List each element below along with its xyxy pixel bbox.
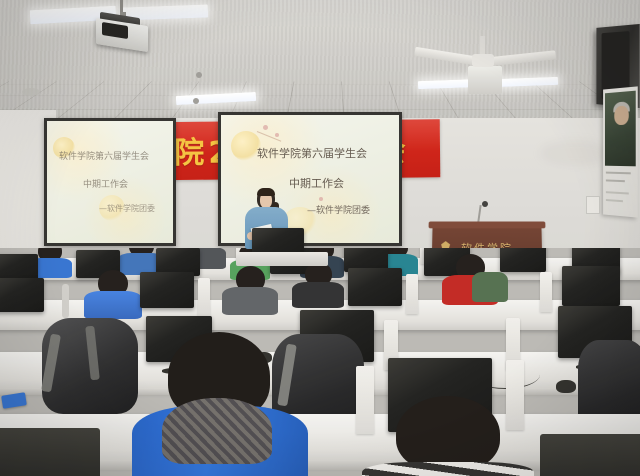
student bbox=[292, 262, 344, 306]
student-jacket bbox=[222, 287, 278, 315]
ceiling-sprinkler-icon bbox=[193, 98, 199, 104]
projection-screen-left: 软件学院第六届学生会 中期工作会 —软件学院团委 bbox=[44, 118, 176, 246]
fan-motor bbox=[472, 54, 494, 67]
mobile-phone bbox=[1, 392, 27, 409]
student-hood bbox=[162, 398, 272, 464]
computer-mouse bbox=[556, 380, 576, 393]
desk-divider bbox=[406, 274, 418, 314]
poster-text-line bbox=[606, 199, 623, 202]
poster-text-line bbox=[606, 179, 625, 182]
ceiling-fan bbox=[418, 36, 548, 98]
ceiling-projector bbox=[92, 12, 152, 52]
monitor bbox=[0, 428, 100, 476]
slide-line1: 软件学院第六届学生会 bbox=[257, 145, 367, 161]
podium-top bbox=[429, 221, 546, 228]
student bbox=[84, 270, 142, 314]
student-jacket bbox=[292, 282, 344, 308]
monitor bbox=[140, 272, 194, 308]
slide-left-line2: 中期工作会 bbox=[83, 177, 128, 190]
slide-left-line1: 软件学院第六届学生会 bbox=[59, 149, 149, 162]
desk-divider-rail bbox=[62, 284, 69, 318]
monitor-back bbox=[0, 428, 100, 476]
slide-left-line3: —软件学院团委 bbox=[99, 203, 155, 214]
student bbox=[222, 266, 278, 312]
student-jacket-overlay bbox=[472, 272, 508, 302]
fan-blade bbox=[468, 66, 502, 94]
monitor bbox=[348, 268, 402, 306]
presenter-hair bbox=[257, 188, 275, 196]
monitor-screen bbox=[500, 248, 546, 272]
monitor bbox=[562, 266, 620, 306]
monitor-back bbox=[540, 434, 640, 476]
student-foreground bbox=[362, 396, 534, 476]
teacher-desk bbox=[236, 252, 328, 266]
microphone-icon bbox=[482, 201, 488, 207]
desk-divider bbox=[540, 272, 552, 312]
student-shirt bbox=[362, 462, 534, 476]
poster-text-line bbox=[606, 172, 631, 175]
desk-divider bbox=[198, 278, 210, 316]
smoke-detector-icon bbox=[22, 88, 40, 96]
monitor-screen bbox=[0, 278, 44, 312]
wall-poster bbox=[603, 86, 638, 217]
screen-surface: 软件学院第六届学生会 中期工作会 —软件学院团委 bbox=[47, 121, 173, 243]
classroom-seating-area bbox=[0, 248, 640, 476]
student-jacket bbox=[84, 291, 142, 319]
poster-face bbox=[614, 105, 628, 125]
wall-switch-box bbox=[586, 196, 600, 214]
flower-dot bbox=[275, 133, 279, 137]
flower-dot bbox=[319, 197, 323, 201]
monitor-screen bbox=[140, 272, 194, 308]
flower-dot bbox=[263, 125, 268, 130]
ceiling-sprinkler-icon bbox=[196, 72, 202, 78]
monitor bbox=[0, 278, 44, 312]
monitor-screen bbox=[562, 266, 620, 306]
monitor-screen bbox=[348, 268, 402, 306]
wall-smudge bbox=[540, 140, 610, 166]
monitor bbox=[540, 434, 640, 476]
student bbox=[442, 254, 498, 302]
slide-line3: —软件学院团委 bbox=[307, 203, 370, 216]
monitor-screen bbox=[0, 254, 38, 280]
student-foreground bbox=[132, 332, 308, 476]
slide-line2: 中期工作会 bbox=[289, 175, 344, 191]
poster-portrait-photo bbox=[605, 91, 636, 167]
monitor bbox=[500, 248, 546, 272]
monitor bbox=[0, 254, 38, 280]
student-head bbox=[396, 396, 500, 472]
poster-text-line bbox=[606, 191, 629, 194]
classroom-photo: …院2015…面会 软件学院第六届学生会 中期工作会 —软件学院团委 软件学院第… bbox=[0, 0, 640, 476]
